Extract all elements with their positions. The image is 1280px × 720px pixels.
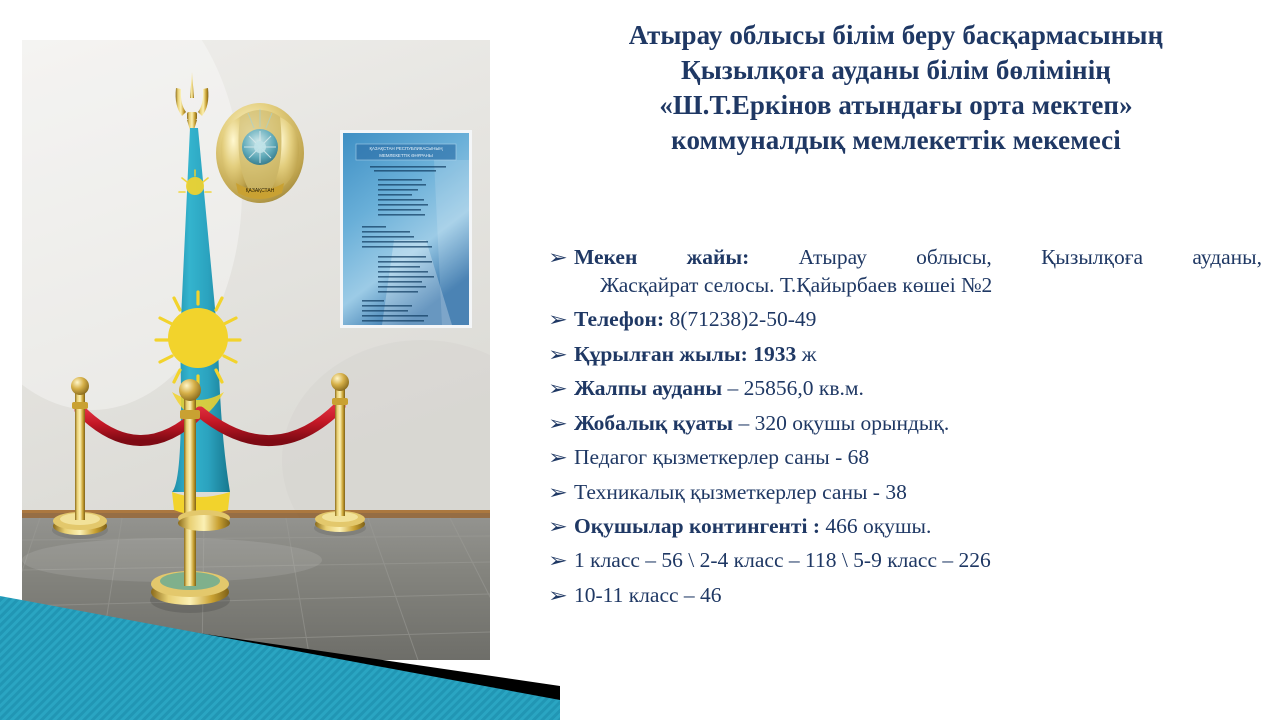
info-grades-10-11: 10-11 класс – 46	[574, 582, 1262, 610]
info-phone: Телефон: 8(71238)2-50-49	[574, 306, 1262, 334]
school-hall-photo: ҚАЗАҚСТАН ҚАЗАҚСТАН РЕСПУБЛИКАСЫНЫҢ МЕМЛ…	[22, 40, 490, 660]
kazakhstan-emblem: ҚАЗАҚСТАН	[216, 103, 304, 203]
info-founded: Құрылған жылы: 1933 ж	[574, 341, 1262, 369]
list-item: ➢ Мекен жайы: Атырау облысы, Қызылқоға а…	[548, 244, 1262, 300]
list-item: ➢ 1 класс – 56 \ 2-4 класс – 118 \ 5-9 к…	[548, 547, 1262, 575]
bullet-arrow-icon: ➢	[548, 375, 579, 401]
bullet-arrow-icon: ➢	[548, 582, 579, 608]
address-line-1: Мекен жайы: Атырау облысы, Қызылқоға ауд…	[574, 244, 1262, 272]
list-item: ➢ Құрылған жылы: 1933 ж	[548, 341, 1262, 369]
capacity-value: – 320 оқушы орындық.	[738, 411, 949, 435]
list-item: ➢ Педагог қызметкерлер саны - 68	[548, 444, 1262, 472]
list-item: ➢ Оқушылар контингенті : 466 оқушы.	[548, 513, 1262, 541]
address-value-2: Жасқайрат селосы. Т.Қайырбаев көшеі №2	[600, 272, 1262, 300]
founded-year: 1933	[753, 342, 796, 366]
bullet-arrow-icon: ➢	[548, 513, 579, 539]
info-grades-1-9: 1 класс – 56 \ 2-4 класс – 118 \ 5-9 кла…	[574, 547, 1262, 575]
bullet-arrow-icon: ➢	[548, 306, 579, 332]
bullet-arrow-icon: ➢	[548, 244, 579, 270]
list-item: ➢ 10-11 класс – 46	[548, 582, 1262, 610]
list-item: ➢ Телефон: 8(71238)2-50-49	[548, 306, 1262, 334]
bullet-arrow-icon: ➢	[548, 547, 579, 573]
list-item: ➢ Жобалық қуаты – 320 оқушы орындық.	[548, 410, 1262, 438]
title-line-1: Атырау облысы білім беру басқармасының	[522, 18, 1270, 53]
info-address: Мекен жайы: Атырау облысы, Қызылқоға ауд…	[574, 244, 1262, 300]
slide-canvas: ҚАЗАҚСТАН ҚАЗАҚСТАН РЕСПУБЛИКАСЫНЫҢ МЕМЛ…	[0, 0, 1280, 720]
students-label: Оқушылар контингенті :	[574, 514, 820, 538]
page-title: Атырау облысы білім беру басқармасының Қ…	[522, 18, 1270, 158]
address-value-1: Атырау облысы, Қызылқоға ауданы,	[799, 245, 1262, 269]
capacity-label: Жобалық қуаты	[574, 411, 733, 435]
list-item: ➢ Жалпы ауданы – 25856,0 кв.м.	[548, 375, 1262, 403]
title-line-3: «Ш.Т.Еркінов атындағы орта мектеп»	[522, 88, 1270, 123]
anthem-poster: ҚАЗАҚСТАН РЕСПУБЛИКАСЫНЫҢ МЕМЛЕКЕТТІК ӘН…	[340, 130, 472, 328]
svg-text:МЕМЛЕКЕТТІК ӘНҰРАНЫ: МЕМЛЕКЕТТІК ӘНҰРАНЫ	[379, 153, 433, 158]
content-column: Атырау облысы білім беру басқармасының Қ…	[512, 0, 1280, 720]
title-line-2: Қызылқоға ауданы білім бөлімінің	[522, 53, 1270, 88]
students-value: 466 оқушы.	[820, 514, 931, 538]
school-info-list: ➢ Мекен жайы: Атырау облысы, Қызылқоға а…	[548, 244, 1262, 616]
founded-unit: ж	[802, 342, 817, 366]
area-label: Жалпы ауданы	[574, 376, 722, 400]
bullet-arrow-icon: ➢	[548, 341, 579, 367]
bullet-arrow-icon: ➢	[548, 410, 579, 436]
svg-text:ҚАЗАҚСТАН РЕСПУБЛИКАСЫНЫҢ: ҚАЗАҚСТАН РЕСПУБЛИКАСЫНЫҢ	[369, 146, 443, 151]
area-value: – 25856,0 кв.м.	[728, 376, 864, 400]
title-line-4: коммуналдық мемлекеттік мекемесі	[522, 123, 1270, 158]
address-label: Мекен жайы:	[574, 245, 749, 269]
phone-value: 8(71238)2-50-49	[669, 307, 816, 331]
info-capacity: Жобалық қуаты – 320 оқушы орындық.	[574, 410, 1262, 438]
info-technical-staff: Техникалық қызметкерлер саны - 38	[574, 479, 1262, 507]
list-item: ➢ Техникалық қызметкерлер саны - 38	[548, 479, 1262, 507]
info-teachers: Педагог қызметкерлер саны - 68	[574, 444, 1262, 472]
founded-label: Құрылған жылы:	[574, 342, 748, 366]
svg-text:ҚАЗАҚСТАН: ҚАЗАҚСТАН	[246, 188, 275, 194]
info-area: Жалпы ауданы – 25856,0 кв.м.	[574, 375, 1262, 403]
phone-label: Телефон:	[574, 307, 664, 331]
info-students: Оқушылар контингенті : 466 оқушы.	[574, 513, 1262, 541]
bullet-arrow-icon: ➢	[548, 444, 579, 470]
bullet-arrow-icon: ➢	[548, 479, 579, 505]
